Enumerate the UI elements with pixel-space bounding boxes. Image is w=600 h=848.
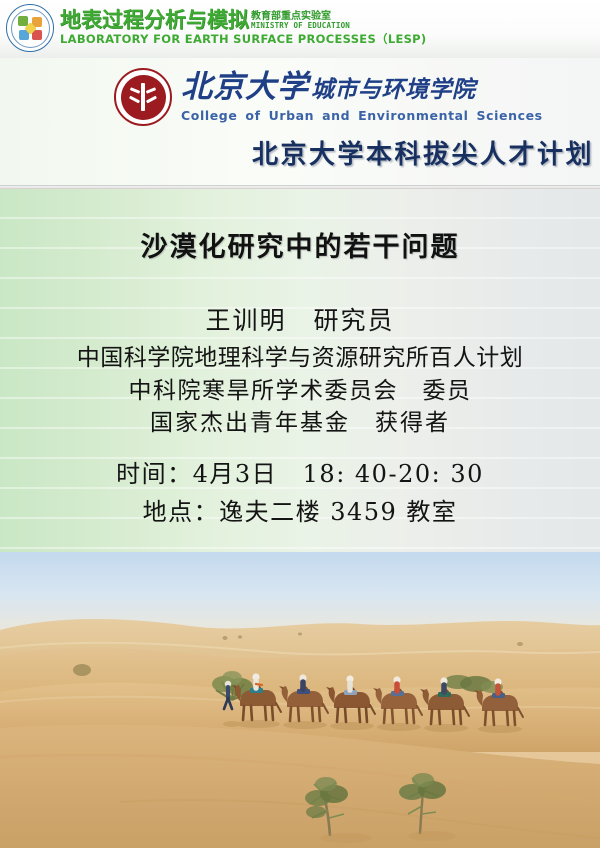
lab-name-cn: 地表过程分析与模拟 xyxy=(60,10,249,31)
lecture-place-row: 地点：逸夫二楼 3459 教室 xyxy=(0,492,600,527)
lesp-seal-icon xyxy=(6,4,54,52)
ministry-label-en: MINISTRY OF EDUCATION xyxy=(251,22,350,30)
lecture-time-row: 时间：4月3日 18: 40-20: 30 xyxy=(0,454,600,489)
glyph-stroke xyxy=(141,83,145,111)
place-value: 逸夫二楼 3459 教室 xyxy=(219,498,457,526)
glyph-stroke xyxy=(146,96,157,104)
time-value: 4月3日 18: 40-20: 30 xyxy=(193,460,484,488)
speaker-affiliation-3: 国家杰出青年基金 获得者 xyxy=(0,403,600,437)
glyph-stroke xyxy=(146,87,156,94)
lab-header-band: 地表过程分析与模拟 教育部重点实验室 MINISTRY OF EDUCATION… xyxy=(0,0,600,59)
lab-name-row: 地表过程分析与模拟 教育部重点实验室 MINISTRY OF EDUCATION xyxy=(60,10,426,31)
speaker-affiliation-1: 中国科学院地理科学与资源研究所百人计划 xyxy=(0,338,600,372)
shrub-icon xyxy=(73,664,91,676)
pku-seal-icon xyxy=(114,68,172,126)
lecture-poster: 地表过程分析与模拟 教育部重点实验室 MINISTRY OF EDUCATION… xyxy=(0,0,600,848)
college-header-band: 北京大学 城市与环境学院 College of Urban and Enviro… xyxy=(0,58,600,186)
college-name-cn-row: 北京大学 城市与环境学院 xyxy=(181,72,543,103)
glyph-stroke xyxy=(129,96,140,104)
lab-header-inner: 地表过程分析与模拟 教育部重点实验室 MINISTRY OF EDUCATION… xyxy=(6,4,426,52)
desert-photo xyxy=(0,552,600,848)
lecture-info-band: 沙漠化研究中的若干问题 王训明 研究员 中国科学院地理科学与资源研究所百人计划 … xyxy=(0,189,600,552)
page-title: 沙漠化研究中的若干问题 xyxy=(0,225,600,264)
pinwheel-icon xyxy=(18,16,42,40)
place-label: 地点： xyxy=(143,498,220,526)
ministry-block: 教育部重点实验室 MINISTRY OF EDUCATION xyxy=(251,12,350,31)
college-name-block: 北京大学 城市与环境学院 College of Urban and Enviro… xyxy=(181,72,543,123)
speaker-name: 王训明 研究员 xyxy=(0,301,600,337)
lab-name-en: LABORATORY FOR EARTH SURFACE PROCESSES（L… xyxy=(60,34,426,46)
lab-header-text: 地表过程分析与模拟 教育部重点实验室 MINISTRY OF EDUCATION… xyxy=(60,10,426,46)
program-title: 北京大学本科拔尖人才计划 xyxy=(252,134,594,171)
university-name-cn: 北京大学 xyxy=(181,72,309,103)
glyph-stroke xyxy=(130,87,140,94)
time-label: 时间： xyxy=(116,460,193,488)
pku-emblem-glyph-icon xyxy=(128,82,158,112)
speaker-affiliation-2: 中科院寒旱所学术委员会 委员 xyxy=(0,371,600,405)
college-name-en: College of Urban and Environmental Scien… xyxy=(181,108,543,123)
desert-scene-illustration xyxy=(0,552,600,848)
college-logo-row: 北京大学 城市与环境学院 College of Urban and Enviro… xyxy=(114,68,543,126)
college-name-cn: 城市与环境学院 xyxy=(311,78,476,101)
